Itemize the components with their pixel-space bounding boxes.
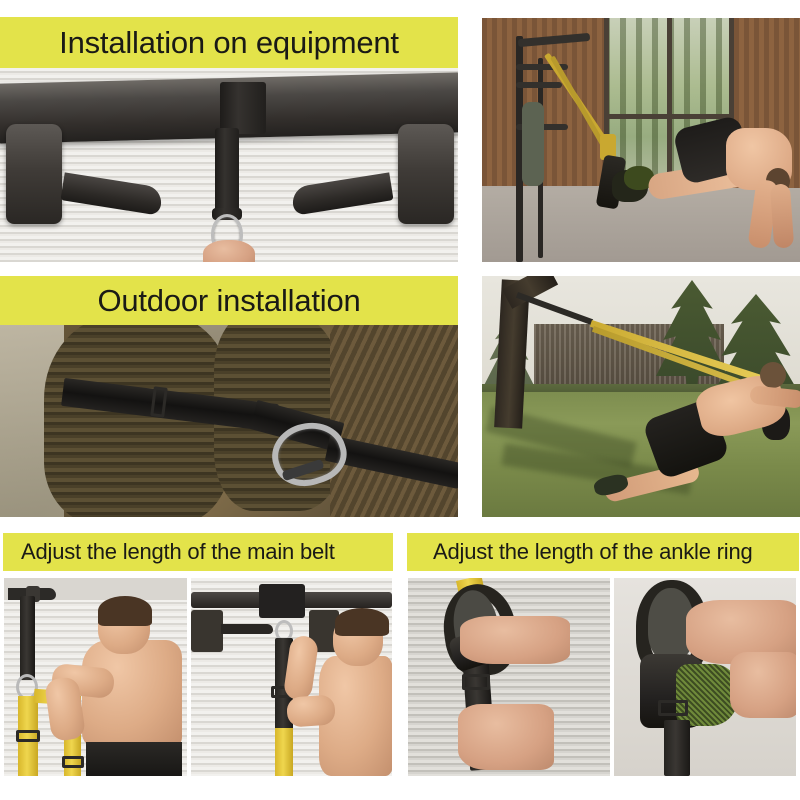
person-shorts-bl1 — [86, 742, 182, 776]
bar-end-cap-right — [398, 124, 454, 224]
person-arm-lower-bl2 — [286, 694, 336, 727]
rack-pad — [522, 102, 544, 186]
photo-outdoor-suspension-workout — [482, 276, 800, 517]
bar-block-left-bl2 — [191, 610, 223, 652]
buckle-2-bl1 — [62, 756, 84, 768]
caption-adjust-ankle-ring: Adjust the length of the ankle ring — [407, 533, 799, 571]
ankle-strap-tail-br2 — [664, 720, 690, 776]
ladder-lock-buckle-br2 — [658, 700, 688, 716]
rack-rung-2 — [516, 82, 562, 88]
yellow-strap-bl2 — [275, 728, 293, 776]
anchor-strap-loop — [220, 82, 266, 134]
photo-indoor-suspension-workout — [482, 18, 800, 262]
photo-adjust-ankle-ring-step-2 — [614, 578, 796, 776]
hand-upper-br1 — [460, 616, 570, 664]
caption-text-outdoor: Outdoor installation — [97, 283, 360, 319]
photo-pullup-bar-installation — [0, 68, 458, 262]
bar-end-cap-left — [6, 124, 62, 224]
tree-bark-right — [330, 325, 458, 517]
caption-installation-on-equipment: Installation on equipment — [0, 17, 458, 68]
hand — [203, 240, 255, 262]
caption-text-equipment: Installation on equipment — [59, 25, 399, 61]
window-transom — [604, 114, 734, 119]
main-belt-black-bl1 — [20, 596, 35, 680]
anchor-strap-tail — [215, 128, 239, 216]
person-hair-bl2 — [335, 608, 389, 636]
anchor-strap-bl2 — [259, 584, 305, 618]
ankle-mesh-lining-br2 — [676, 664, 738, 726]
athlete-head-outdoor — [760, 362, 786, 388]
infographic-root: Installation on equipment — [0, 0, 800, 800]
window-mullion-center — [667, 18, 672, 188]
photo-adjust-main-belt-step-2 — [191, 578, 392, 776]
person-hair-bl1 — [98, 596, 152, 626]
photo-adjust-ankle-ring-step-1 — [408, 578, 610, 776]
hand-lower-br1 — [458, 704, 554, 770]
caption-adjust-main-belt: Adjust the length of the main belt — [3, 533, 393, 571]
caption-text-ankle-ring: Adjust the length of the ankle ring — [433, 539, 753, 565]
buckle-bl1 — [16, 730, 40, 742]
photo-adjust-main-belt-step-1 — [4, 578, 187, 776]
hand-lower-br2 — [730, 652, 796, 718]
caption-outdoor-installation: Outdoor installation — [0, 276, 458, 325]
photo-tree-anchor-installation — [0, 325, 458, 517]
bar-grip-left-bl2 — [221, 624, 273, 634]
caption-text-main-belt: Adjust the length of the main belt — [21, 539, 335, 565]
ladder-lock-buckle-br1 — [462, 674, 490, 690]
